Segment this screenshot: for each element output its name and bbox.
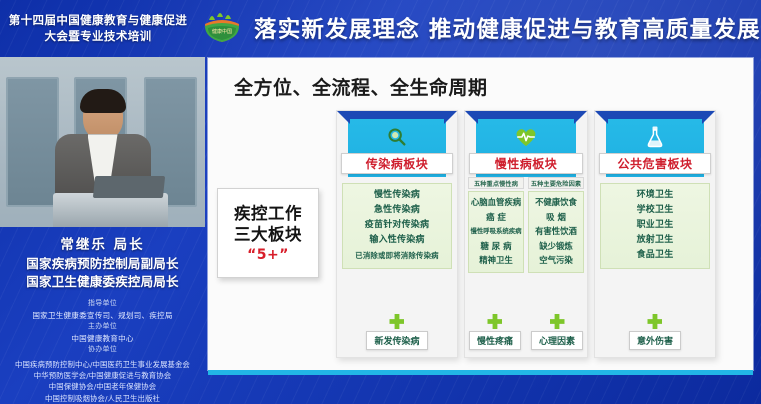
subcolumn: 五种重点慢性病心脑血管疾病癌 症慢性呼吸系统疾病糖 尿 病精神卫生 [468, 177, 524, 273]
screen-root: 第十四届中国健康教育与健康促进 大会暨专业技术培训 健康中国 落实新发展理念 推… [0, 0, 761, 404]
host-value: 中国健康教育中心 [0, 333, 205, 345]
tag-label: 心理因素 [531, 331, 583, 350]
slide-column-infectious: 传染病板块慢性传染病急性传染病疫苗针对传染病输入性传染病已消除或即将消除传染病新… [336, 110, 458, 358]
magnifier-icon [384, 124, 410, 150]
conference-name: 第十四届中国健康教育与健康促进 大会暨专业技术培训 [0, 0, 196, 56]
list-item: 学校卫生 [637, 204, 674, 217]
tag-label: 慢性疼痛 [469, 331, 521, 350]
coorganizer-item: 中国保健协会/中国老年保健协会 [0, 381, 205, 392]
tag-cell: 慢性疼痛 [469, 314, 521, 350]
callout-line3: “5+” [247, 247, 289, 263]
green-cross-icon [550, 314, 565, 329]
column-tags: 意外伤害 [595, 314, 715, 350]
organizers-block: 指导单位 国家卫生健康委宣传司、规划司、疾控局 主办单位 中国健康教育中心 协办… [0, 298, 205, 404]
guidance-value: 国家卫生健康委宣传司、规划司、疾控局 [0, 310, 205, 322]
heart-pulse-icon [513, 124, 539, 150]
green-cross-icon [389, 314, 404, 329]
conference-name-line1: 第十四届中国健康教育与健康促进 [9, 12, 188, 28]
list-item: 职业卫生 [637, 219, 674, 232]
column-subcolumns: 五种重点慢性病心脑血管疾病癌 症慢性呼吸系统疾病糖 尿 病精神卫生五种主要危险因… [468, 177, 584, 273]
callout-line1: 疾控工作 [234, 203, 302, 224]
list-item: 输入性传染病 [369, 234, 424, 247]
slide-callout-box: 疾控工作 三大板块 “5+” [217, 188, 319, 278]
coorganizer-item: 中国疾病预防控制中心/中国医药卫生事业发展基金会 [0, 359, 205, 370]
list-item: 糖 尿 病 [481, 240, 512, 253]
subcolumn-heading: 五种重点慢性病 [468, 177, 524, 189]
coorganizer-list: 中国疾病预防控制中心/中国医药卫生事业发展基金会中华预防医学会/中国健康促进与教… [0, 359, 205, 404]
speaker-video-feed[interactable] [0, 57, 205, 227]
tag-label: 意外伤害 [629, 331, 681, 350]
list-item: 癌 症 [486, 211, 506, 224]
column-tags: 新发传染病 [337, 314, 457, 350]
list-item: 慢性传染病 [374, 189, 420, 202]
host-label: 主办单位 [0, 321, 205, 333]
page-title-text: 落实新发展理念 推动健康促进与教育高质量发展 [254, 12, 761, 44]
slide-bottom-bar [208, 370, 753, 375]
tag-label: 新发传染病 [366, 331, 427, 350]
flask-icon [642, 124, 668, 150]
list-item: 精神卫生 [479, 254, 513, 267]
list-item: 不健康饮食 [535, 196, 577, 209]
svg-text:健康中国: 健康中国 [212, 28, 232, 35]
column-tags: 慢性疼痛心理因素 [465, 314, 587, 350]
slide-column-chronic: 慢性病板块五种重点慢性病心脑血管疾病癌 症慢性呼吸系统疾病糖 尿 病精神卫生五种… [464, 110, 588, 358]
speaker-hair [80, 89, 126, 113]
conference-name-line2: 大会暨专业技术培训 [44, 28, 151, 44]
column-title-infectious: 传染病板块 [341, 153, 453, 174]
speaker-info-panel: 常继乐 局长 国家疾病预防控制局副局长 国家卫生健康委疾控局局长 指导单位 国家… [0, 232, 205, 404]
coorganizer-item: 中华预防医学会/中国健康促进与教育协会 [0, 370, 205, 381]
green-leaf-logo-icon: 健康中国 [196, 6, 248, 50]
subcolumn: 五种主要危险因素不健康饮食吸 烟有害性饮酒缺少锻炼空气污染 [528, 177, 584, 273]
column-title-chronic: 慢性病板块 [469, 153, 583, 174]
guidance-label: 指导单位 [0, 298, 205, 310]
presentation-slide: 全方位、全流程、全生命周期 疾控工作 三大板块 “5+” 传染病板块慢性传染病急… [208, 58, 753, 370]
green-cross-icon [487, 314, 502, 329]
list-item: 心脑血管疾病 [471, 196, 521, 209]
coorganizer-label: 协办单位 [0, 344, 205, 356]
column-ribbon [606, 111, 704, 119]
list-item: 有害性饮酒 [535, 225, 577, 238]
green-cross-icon [647, 314, 662, 329]
callout-line2: 三大板块 [234, 224, 302, 245]
column-ribbon [348, 111, 446, 119]
list-item: 吸 烟 [546, 211, 566, 224]
column-title-public-hazard: 公共危害板块 [599, 153, 711, 174]
list-item: 空气污染 [539, 254, 573, 267]
subcolumn-heading: 五种主要危险因素 [528, 177, 584, 189]
speaker-title-line1: 国家疾病预防控制局副局长 [0, 255, 205, 273]
list-item: 环境卫生 [637, 189, 674, 202]
list-item: 疫苗针对传染病 [365, 219, 429, 232]
video-background [0, 57, 205, 227]
podium [53, 193, 168, 227]
list-item: 急性传染病 [374, 204, 420, 217]
laptop [93, 176, 165, 198]
list-item: 放射卫生 [637, 234, 674, 247]
slide-column-public-hazard: 公共危害板块环境卫生学校卫生职业卫生放射卫生食品卫生意外伤害 [594, 110, 716, 358]
list-item: 慢性呼吸系统疾病 [470, 225, 521, 238]
column-items: 环境卫生学校卫生职业卫生放射卫生食品卫生 [600, 183, 710, 269]
list-item: 食品卫生 [637, 249, 674, 262]
slide-title: 全方位、全流程、全生命周期 [234, 73, 488, 100]
tag-cell: 意外伤害 [629, 314, 681, 350]
coorganizer-item: 中国控制吸烟协会/人民卫生出版社 [0, 393, 205, 404]
speaker-name: 常继乐 局长 [0, 236, 205, 255]
list-item: 缺少锻炼 [539, 240, 573, 253]
column-items: 慢性传染病急性传染病疫苗针对传染病输入性传染病已消除或即将消除传染病 [342, 183, 452, 269]
column-ribbon [476, 111, 576, 119]
page-title: 落实新发展理念 推动健康促进与教育高质量发展 [248, 0, 761, 56]
background-door [6, 77, 59, 206]
subcolumn-items: 心脑血管疾病癌 症慢性呼吸系统疾病糖 尿 病精神卫生 [468, 191, 524, 273]
speaker-title-line2: 国家卫生健康委疾控局局长 [0, 273, 205, 291]
subcolumn-items: 不健康饮食吸 烟有害性饮酒缺少锻炼空气污染 [528, 191, 584, 273]
tag-cell: 新发传染病 [366, 314, 427, 350]
list-item: 已消除或即将消除传染病 [355, 249, 439, 262]
page-header: 第十四届中国健康教育与健康促进 大会暨专业技术培训 健康中国 落实新发展理念 推… [0, 0, 761, 56]
tag-cell: 心理因素 [531, 314, 583, 350]
